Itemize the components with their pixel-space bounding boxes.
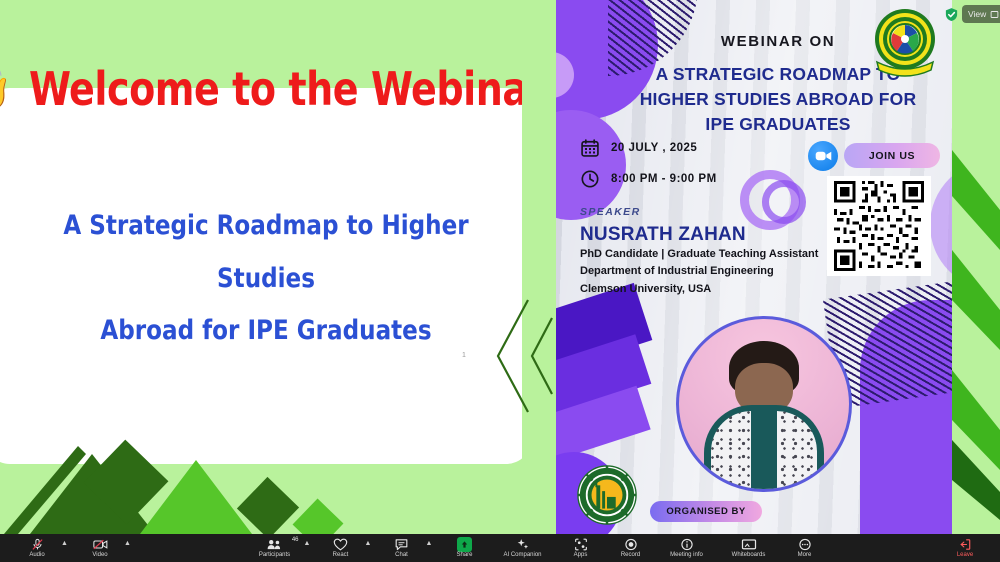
- speaker-name: NUSRATH ZAHAN: [580, 224, 746, 246]
- more-label: More: [798, 552, 812, 558]
- view-button-label: View: [968, 9, 986, 19]
- chat-label: Chat: [395, 552, 408, 558]
- welcome-title-text: Welcome to the Webinar: [29, 62, 546, 116]
- shared-screen-stage: 👋 Welcome to the Webinar A Strategic Roa…: [0, 0, 1000, 534]
- sparkles-icon: [516, 538, 530, 551]
- webinar-poster[interactable]: WEBINAR ON A STRATEGIC ROADMAP TO HIGHER…: [556, 0, 1000, 534]
- apps-label: Apps: [574, 552, 588, 558]
- zoom-meeting-window: 👋 Welcome to the Webinar A Strategic Roa…: [0, 0, 1000, 562]
- participants-count: 46: [292, 537, 299, 543]
- video-options-caret[interactable]: ▲: [123, 534, 132, 562]
- leave-door-icon: [958, 538, 972, 551]
- layout-icon: [990, 10, 999, 19]
- speaker-details: PhD Candidate | Graduate Teaching Assist…: [580, 246, 818, 298]
- whiteboards-label: Whiteboards: [732, 552, 766, 558]
- slide-welcome-heading: 👋 Welcome to the Webinar: [16, 62, 536, 116]
- info-circle-icon: [680, 538, 694, 551]
- speaker-photo: [676, 316, 852, 492]
- poster-meta: 20 JULY , 2025 8:00 PM - 9:00 PM: [580, 138, 840, 200]
- meeting-info-button[interactable]: Meeting info: [658, 534, 716, 562]
- poster-title-line-3: IPE GRADUATES: [596, 112, 960, 137]
- react-button[interactable]: React: [318, 534, 364, 562]
- audio-button[interactable]: Audio: [14, 534, 60, 562]
- audio-options-caret[interactable]: ▲: [60, 534, 69, 562]
- heart-icon: [333, 538, 348, 551]
- university-crest-icon: [869, 6, 941, 78]
- mountain-decoration: [0, 424, 556, 534]
- right-edge-chevron-decoration: [952, 0, 1000, 534]
- slide-number: 1: [462, 352, 466, 359]
- audio-label: Audio: [29, 552, 44, 558]
- whiteboards-button[interactable]: Whiteboards: [720, 534, 778, 562]
- poster-date-row: 20 JULY , 2025: [580, 138, 840, 158]
- clock-icon: [580, 169, 600, 189]
- subtitle-line-1: A Strategic Roadmap to Higher Studies: [29, 200, 504, 305]
- leave-button[interactable]: Leave: [942, 534, 988, 562]
- waving-hand-icon: 👋: [0, 68, 13, 110]
- zoom-camera-icon: [808, 141, 838, 171]
- industrial-gear-logo-icon: [576, 464, 638, 526]
- join-us-button[interactable]: JOIN US: [844, 143, 940, 168]
- react-group: React ▲: [318, 534, 373, 562]
- zoom-toolbar: Audio ▲ Video ▲: [0, 534, 1000, 562]
- ai-companion-button[interactable]: AI Companion: [492, 534, 554, 562]
- audio-control-group: Audio ▲: [14, 534, 69, 562]
- qr-code[interactable]: [827, 176, 931, 276]
- view-button[interactable]: View: [962, 5, 1000, 23]
- video-label: Video: [92, 552, 107, 558]
- ellipsis-icon: [798, 538, 812, 551]
- meeting-info-label: Meeting info: [670, 552, 703, 558]
- video-control-group: Video ▲: [77, 534, 132, 562]
- speaker-university: Clemson University, USA: [580, 281, 818, 298]
- share-screen-button[interactable]: Share: [442, 534, 488, 562]
- chat-group: Chat ▲: [379, 534, 434, 562]
- participants-label: Participants: [259, 552, 290, 558]
- share-label: Share: [456, 552, 472, 558]
- share-screen-icon: [457, 538, 472, 551]
- poster-date-text: 20 JULY , 2025: [611, 142, 697, 154]
- record-button[interactable]: Record: [608, 534, 654, 562]
- poster-time-text: 8:00 PM - 9:00 PM: [611, 173, 717, 185]
- speaker-role: PhD Candidate | Graduate Teaching Assist…: [580, 246, 818, 263]
- people-icon: [266, 538, 283, 551]
- whiteboard-icon: [741, 538, 757, 551]
- video-button[interactable]: Video: [77, 534, 123, 562]
- record-label: Record: [621, 552, 640, 558]
- chat-button[interactable]: Chat: [379, 534, 425, 562]
- chat-options-caret[interactable]: ▲: [425, 534, 434, 562]
- leave-label: Leave: [957, 552, 973, 558]
- record-circle-icon: [624, 538, 638, 551]
- react-label: React: [333, 552, 349, 558]
- microphone-muted-icon: [31, 538, 44, 551]
- poster-time-row: 8:00 PM - 9:00 PM: [580, 169, 840, 189]
- poster-title-line-2: HIGHER STUDIES ABROAD FOR: [596, 87, 960, 112]
- participants-group: 46 Participants ▲: [247, 534, 312, 562]
- slide-chevron-decoration: [486, 0, 556, 534]
- organised-by-badge: ORGANISED BY: [650, 501, 762, 522]
- ai-companion-label: AI Companion: [503, 552, 541, 558]
- speaker-label: SPEAKER: [580, 206, 641, 218]
- chat-bubble-icon: [394, 538, 409, 551]
- more-button[interactable]: More: [782, 534, 828, 562]
- slide-subtitle: A Strategic Roadmap to Higher Studies Ab…: [29, 200, 504, 358]
- presentation-slide[interactable]: 👋 Welcome to the Webinar A Strategic Roa…: [0, 0, 556, 534]
- participants-button[interactable]: 46 Participants: [247, 534, 303, 562]
- calendar-icon: [580, 138, 600, 158]
- subtitle-line-2: Abroad for IPE Graduates: [29, 305, 504, 358]
- apps-button[interactable]: Apps: [558, 534, 604, 562]
- react-options-caret[interactable]: ▲: [364, 534, 373, 562]
- encryption-shield-check-icon[interactable]: [944, 7, 959, 22]
- camera-off-icon: [93, 538, 108, 551]
- speaker-department: Department of Industrial Engineering: [580, 263, 818, 280]
- participants-options-caret[interactable]: ▲: [303, 534, 312, 562]
- apps-grid-icon: [574, 538, 588, 551]
